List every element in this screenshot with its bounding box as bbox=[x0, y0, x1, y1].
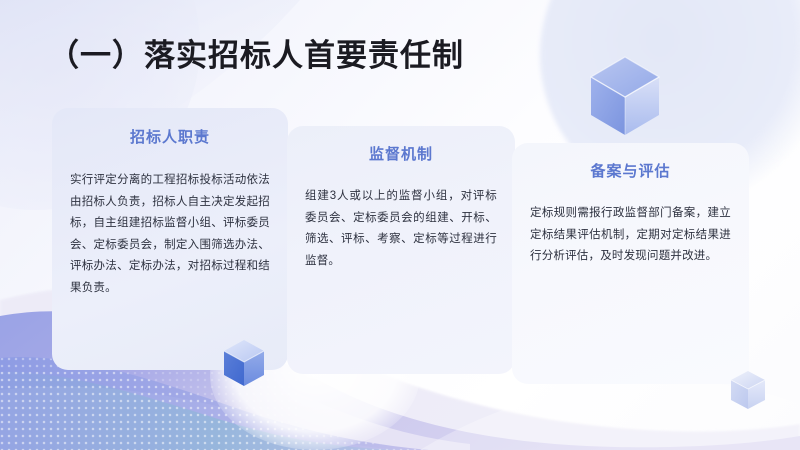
content-card-filing-evaluation: 备案与评估 定标规则需报行政监督部门备案，建立定标结果评估机制，定期对定标结果进… bbox=[512, 143, 749, 384]
cube-3d-icon-medium bbox=[222, 338, 266, 388]
card-title-filing-evaluation: 备案与评估 bbox=[512, 160, 749, 181]
card-body-filing-evaluation: 定标规则需报行政监督部门备案，建立定标结果评估机制，定期对定标结果进行分析评估，… bbox=[530, 203, 731, 268]
page-title: （一）落实招标人首要责任制 bbox=[48, 36, 464, 76]
cube-3d-icon-small bbox=[729, 369, 767, 411]
card-title-responsibility: 招标人职责 bbox=[52, 126, 288, 147]
card-title-supervision: 监督机制 bbox=[287, 143, 515, 164]
card-body-responsibility: 实行评定分离的工程招标投标活动依法由招标人负责，招标人自主决定发起招标，自主组建… bbox=[70, 170, 270, 299]
slide-canvas: （一）落实招标人首要责任制 招标人职责 实行评定分离的工程招标投标活动依法由招标… bbox=[0, 0, 800, 450]
card-body-supervision: 组建3人或以上的监督小组，对评标委员会、定标委员会的组建、开标、筛选、评标、考察… bbox=[305, 186, 497, 272]
cube-3d-icon-large bbox=[588, 55, 662, 137]
content-card-supervision: 监督机制 组建3人或以上的监督小组，对评标委员会、定标委员会的组建、开标、筛选、… bbox=[287, 126, 515, 374]
content-card-responsibility: 招标人职责 实行评定分离的工程招标投标活动依法由招标人负责，招标人自主决定发起招… bbox=[52, 108, 288, 370]
